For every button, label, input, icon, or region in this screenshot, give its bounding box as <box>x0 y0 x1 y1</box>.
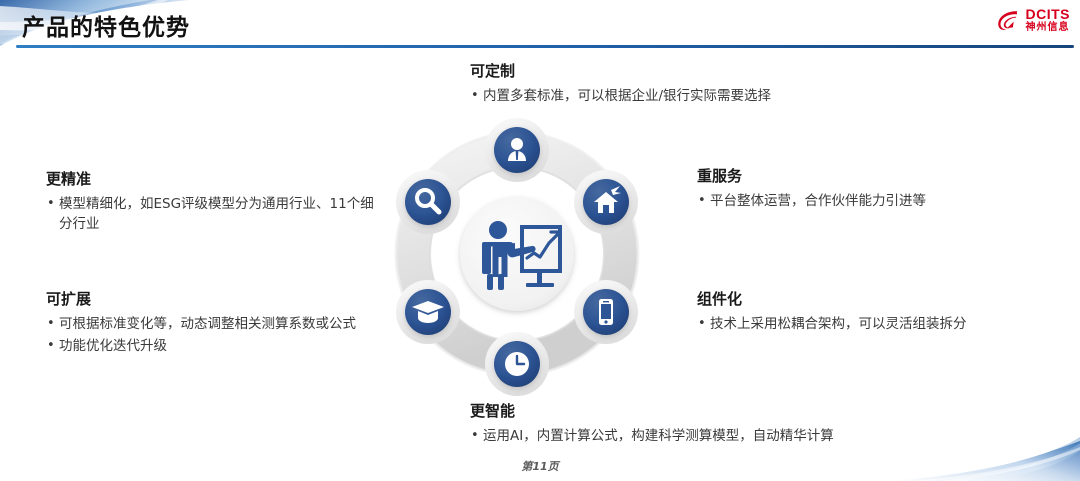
mobile-icon <box>599 299 613 325</box>
feature-block-service: 重服务 平台整体运营，合作伙伴能力引进等 <box>697 165 1047 213</box>
feature-block-extensible: 可扩展 可根据标准变化等，动态调整相关测算系数或公式 功能优化迭代升级 <box>46 288 376 358</box>
feature-bullet: 技术上采用松耦合架构，可以灵活组装拆分 <box>697 314 1047 334</box>
feature-block-customizable: 可定制 内置多套标准，可以根据企业/银行实际需要选择 <box>470 60 930 108</box>
page-title: 产品的特色优势 <box>22 8 190 42</box>
logo-text-cn: 神州信息 <box>1026 23 1071 33</box>
diagram-node-graduation[interactable] <box>396 280 460 344</box>
brand-logo: DCITS 神州信息 <box>995 7 1071 33</box>
logo-text-en: DCITS <box>1026 7 1071 21</box>
feature-heading: 更智能 <box>470 400 940 421</box>
feature-bullet: 内置多套标准，可以根据企业/银行实际需要选择 <box>470 86 930 106</box>
slide: 产品的特色优势 DCITS 神州信息 可定制 内置多套标准，可以根据企业/银行实… <box>0 0 1080 481</box>
feature-bullet: 功能优化迭代升级 <box>46 336 376 356</box>
feature-heading: 组件化 <box>697 288 1047 309</box>
diagram-node-user[interactable] <box>485 118 549 182</box>
diagram-node-clock[interactable] <box>485 332 549 396</box>
feature-heading: 更精准 <box>46 168 376 189</box>
feature-bullet: 模型精细化，如ESG评级模型分为通用行业、11个细分行业 <box>46 194 376 234</box>
footer-swoosh-decoration <box>850 437 1080 481</box>
feature-bullet: 可根据标准变化等，动态调整相关测算系数或公式 <box>46 314 376 334</box>
feature-heading: 重服务 <box>697 165 1047 186</box>
central-diagram <box>372 108 662 400</box>
feature-block-accurate: 更精准 模型精细化，如ESG评级模型分为通用行业、11个细分行业 <box>46 168 376 236</box>
clock-icon <box>505 352 529 376</box>
feature-heading: 可扩展 <box>46 288 376 309</box>
diagram-node-mobile[interactable] <box>574 280 638 344</box>
feature-block-component: 组件化 技术上采用松耦合架构，可以灵活组装拆分 <box>697 288 1047 336</box>
diagram-node-search[interactable] <box>396 170 460 234</box>
diagram-node-home[interactable] <box>574 170 638 234</box>
slide-header: 产品的特色优势 DCITS 神州信息 <box>0 0 1080 48</box>
dcits-swirl-icon <box>995 7 1021 33</box>
header-divider <box>16 45 1074 48</box>
feature-heading: 可定制 <box>470 60 930 81</box>
feature-bullet: 平台整体运营，合作伙伴能力引进等 <box>697 191 1047 211</box>
